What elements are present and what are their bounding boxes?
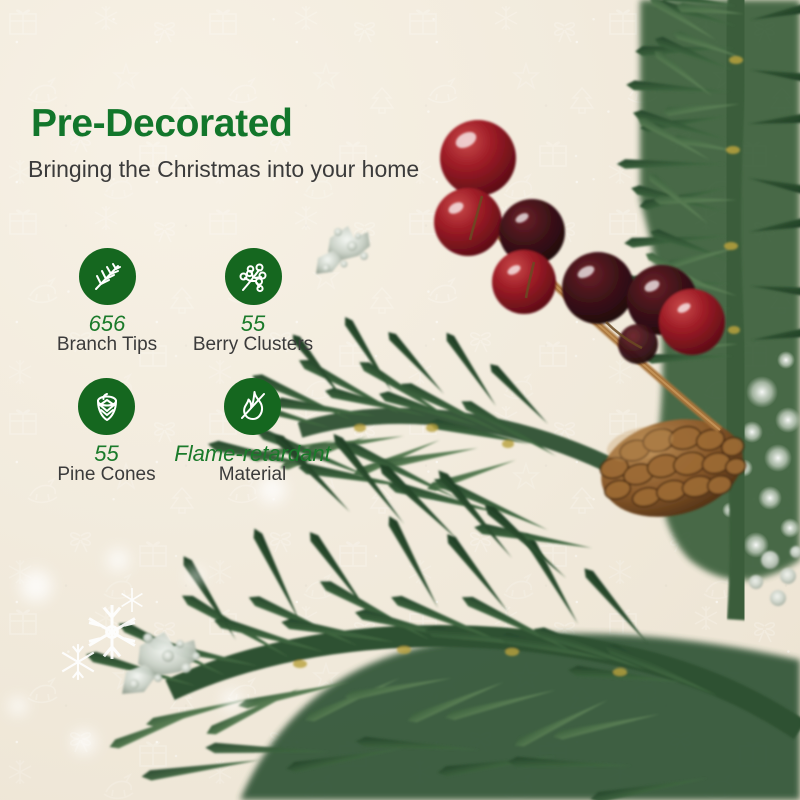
pine-branch-icon xyxy=(89,259,125,295)
branch-tips-badge xyxy=(79,248,136,305)
pine-cone-icon xyxy=(89,388,125,424)
berry-clusters-label: Berry Clusters xyxy=(193,335,313,356)
flame-retardant-label: Material xyxy=(219,465,287,486)
berry-cluster-icon xyxy=(235,259,271,295)
feature-grid: 656 Branch Tips xyxy=(30,248,330,486)
page-subtitle: Bringing the Christmas into your home xyxy=(28,158,419,181)
pine-cones-badge xyxy=(78,378,135,435)
flame-retardant-icon xyxy=(235,388,271,424)
pine-cones-value: 55 xyxy=(94,442,118,465)
flame-retardant-badge xyxy=(224,378,281,435)
feature-pine-cones: 55 Pine Cones xyxy=(30,378,183,486)
feature-row-1: 656 Branch Tips xyxy=(30,248,330,356)
feature-branch-tips: 656 Branch Tips xyxy=(30,248,184,356)
pine-cones-label: Pine Cones xyxy=(57,465,155,486)
page-title: Pre-Decorated xyxy=(31,104,292,143)
branch-tips-value: 656 xyxy=(89,312,126,335)
feature-row-2: 55 Pine Cones Flame-retardant Material xyxy=(30,378,330,486)
promo-banner: Pre-Decorated Bringing the Christmas int… xyxy=(0,0,800,800)
feature-flame-retardant: Flame-retardant Material xyxy=(175,378,330,486)
branch-tips-label: Branch Tips xyxy=(57,335,157,356)
feature-berry-clusters: 55 Berry Clusters xyxy=(176,248,330,356)
berry-clusters-value: 55 xyxy=(241,312,265,335)
flame-retardant-value: Flame-retardant xyxy=(174,442,331,465)
berry-clusters-badge xyxy=(225,248,282,305)
